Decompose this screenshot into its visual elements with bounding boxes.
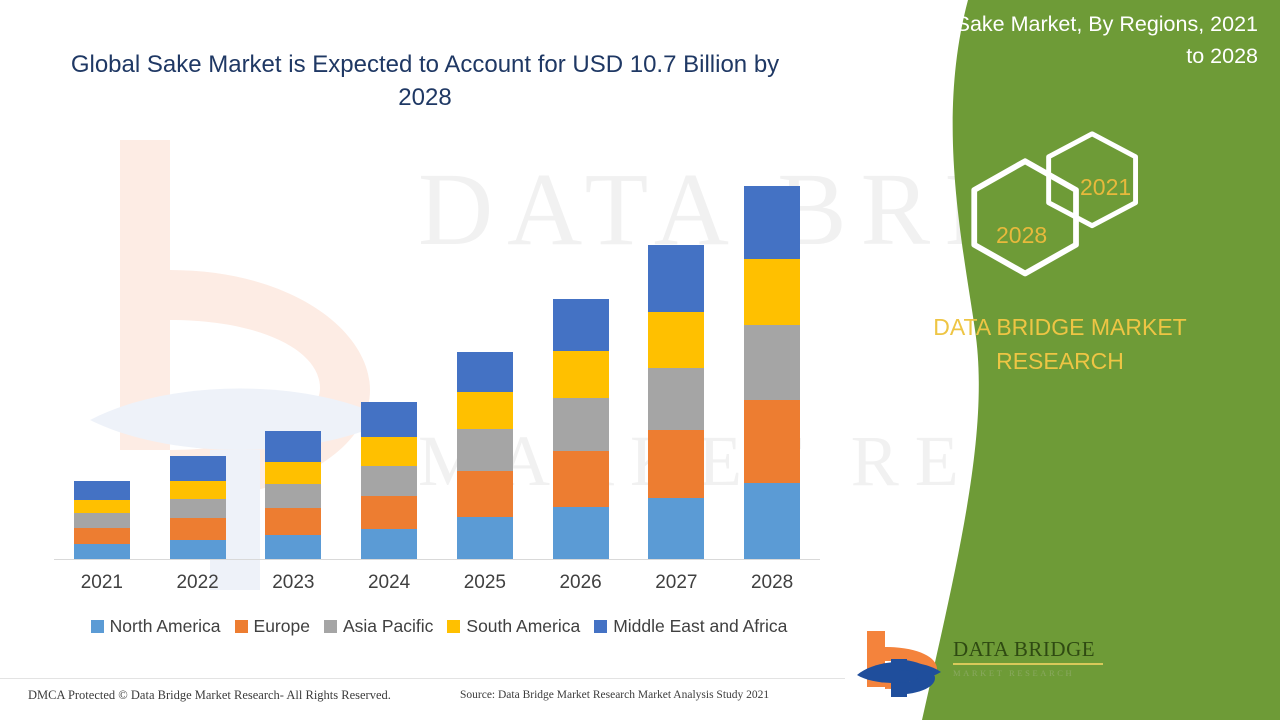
logo-underline — [953, 663, 1103, 665]
x-axis-label: 2021 — [57, 572, 147, 594]
logo-subtitle: MARKET RESEARCH — [953, 668, 1113, 678]
bar-segment — [553, 507, 609, 559]
bar-segment — [265, 462, 321, 484]
bar-segment — [457, 517, 513, 559]
bar-stack — [74, 481, 130, 559]
bar-segment — [648, 430, 704, 497]
company-logo: DATA BRIDGE MARKET RESEARCH — [855, 625, 1105, 700]
bar-group — [744, 186, 800, 559]
chart-panel: DATA BRIDGE MARKET RESEARCH Global Sake … — [0, 0, 900, 720]
footer: DMCA Protected © Data Bridge Market Rese… — [0, 678, 845, 720]
bar-stack — [457, 352, 513, 559]
bar-group — [553, 299, 609, 559]
legend-label: Europe — [254, 616, 310, 637]
bar-segment — [170, 456, 226, 481]
legend-item[interactable]: Asia Pacific — [324, 616, 433, 637]
legend-swatch-icon — [324, 620, 337, 633]
bar-segment — [361, 437, 417, 465]
copyright-text: DMCA Protected © Data Bridge Market Rese… — [28, 688, 391, 703]
x-axis-label: 2027 — [631, 572, 721, 594]
bar-segment — [361, 496, 417, 529]
legend-item[interactable]: South America — [447, 616, 580, 637]
hex-label-near: 2021 — [1080, 174, 1131, 201]
bar-group — [170, 456, 226, 559]
legend-swatch-icon — [91, 620, 104, 633]
bar-segment — [744, 186, 800, 259]
bar-segment — [265, 508, 321, 534]
brand-panel: Global Sake Market, By Regions, 2021 to … — [840, 0, 1280, 720]
bar-segment — [457, 352, 513, 392]
legend-item[interactable]: Middle East and Africa — [594, 616, 787, 637]
x-axis-label: 2022 — [153, 572, 243, 594]
bar-segment — [74, 500, 130, 514]
x-axis-label: 2026 — [536, 572, 626, 594]
bar-segment — [648, 245, 704, 311]
x-axis-label: 2025 — [440, 572, 530, 594]
bar-segment — [74, 528, 130, 545]
hexagon-outline-icon — [960, 130, 1170, 290]
bar-stack — [744, 186, 800, 559]
bar-group — [457, 352, 513, 559]
bar-segment — [265, 535, 321, 559]
bar-segment — [361, 402, 417, 437]
bar-stack — [648, 245, 704, 559]
legend-swatch-icon — [235, 620, 248, 633]
bar-segment — [553, 398, 609, 451]
bar-segment — [361, 466, 417, 496]
bar-segment — [170, 499, 226, 518]
bar-segment — [361, 529, 417, 559]
hexagon-badges: 2021 2028 — [960, 130, 1170, 290]
bar-segment — [265, 484, 321, 508]
legend-swatch-icon — [594, 620, 607, 633]
legend-label: South America — [466, 616, 580, 637]
bar-group — [361, 402, 417, 559]
bar-segment — [648, 312, 704, 368]
bar-segment — [170, 540, 226, 559]
bar-stack — [170, 456, 226, 559]
bar-group — [74, 481, 130, 559]
bar-segment — [744, 483, 800, 559]
legend-item[interactable]: Europe — [235, 616, 310, 637]
data-bridge-logo-icon — [855, 625, 947, 697]
chart-legend: North AmericaEuropeAsia PacificSouth Ame… — [54, 616, 824, 637]
legend-label: North America — [110, 616, 221, 637]
panel-title: Global Sake Market, By Regions, 2021 to … — [876, 8, 1258, 72]
bar-group — [648, 245, 704, 559]
hex-label-far: 2028 — [996, 222, 1047, 249]
bar-segment — [170, 481, 226, 499]
bar-segment — [744, 400, 800, 483]
x-axis-label: 2028 — [727, 572, 817, 594]
bar-stack — [553, 299, 609, 559]
bar-segment — [457, 392, 513, 430]
bar-segment — [74, 544, 130, 559]
page-title: Global Sake Market is Expected to Accoun… — [60, 48, 790, 114]
bar-segment — [457, 429, 513, 471]
bar-segment — [457, 471, 513, 517]
bar-segment — [648, 498, 704, 559]
source-text: Source: Data Bridge Market Research Mark… — [460, 689, 769, 701]
x-axis-label: 2023 — [248, 572, 338, 594]
brand-name-line-1: DATA BRIDGE MARKET — [860, 310, 1260, 344]
footer-divider — [0, 678, 845, 679]
bar-segment — [553, 351, 609, 399]
legend-label: Asia Pacific — [343, 616, 433, 637]
bar-group — [265, 431, 321, 559]
x-axis-line — [54, 559, 820, 560]
logo-title: DATA BRIDGE — [953, 637, 1113, 662]
bar-segment — [744, 259, 800, 325]
bar-segment — [553, 451, 609, 507]
x-axis-label: 2024 — [344, 572, 434, 594]
brand-name-line-2: RESEARCH — [860, 344, 1260, 378]
bar-segment — [265, 431, 321, 461]
chart-plot-area — [54, 150, 820, 560]
brand-name: DATA BRIDGE MARKET RESEARCH — [860, 310, 1260, 378]
legend-item[interactable]: North America — [91, 616, 221, 637]
bar-segment — [744, 325, 800, 400]
bar-segment — [74, 513, 130, 528]
bar-segment — [553, 299, 609, 351]
bar-stack — [265, 431, 321, 559]
bar-stack — [361, 402, 417, 559]
x-axis-labels: 20212022202320242025202620272028 — [54, 572, 820, 602]
bar-segment — [170, 518, 226, 539]
bar-segment — [74, 481, 130, 500]
infographic-slide: DATA BRIDGE MARKET RESEARCH Global Sake … — [0, 0, 1280, 720]
legend-label: Middle East and Africa — [613, 616, 787, 637]
bar-segment — [648, 368, 704, 430]
legend-swatch-icon — [447, 620, 460, 633]
